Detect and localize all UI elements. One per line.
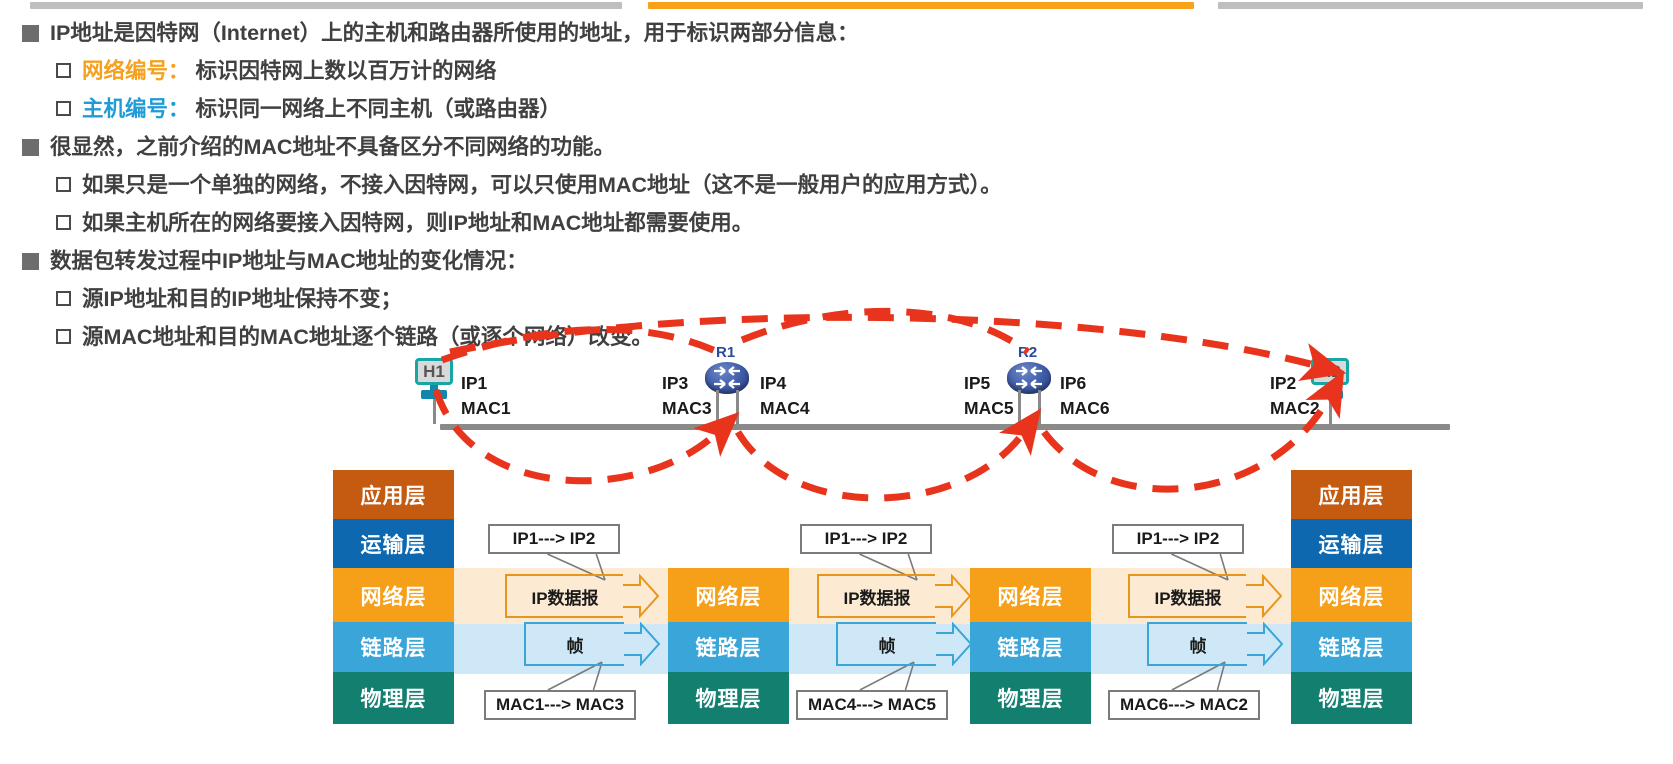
hollow-square-icon: [56, 177, 71, 192]
router-drop-line: [716, 390, 719, 424]
filled-square-icon: [22, 253, 39, 270]
pdu-arrow-icon: [624, 622, 660, 666]
host-label: H2: [1319, 362, 1341, 382]
layer-cell: 物理层: [970, 672, 1091, 724]
progress-seg-active[interactable]: [648, 2, 1194, 9]
bullet-text: 源IP地址和目的IP地址保持不变；: [82, 282, 402, 316]
layer-label: 物理层: [998, 683, 1064, 713]
pdu-frame-1: 帧: [524, 622, 660, 666]
layer-label: 链路层: [696, 632, 762, 662]
pdu-arrow-icon: [936, 622, 972, 666]
layer-label: 网络层: [998, 581, 1064, 611]
callout-mac-3: MAC6---> MAC2: [1108, 690, 1260, 720]
filled-square-icon: [22, 25, 39, 42]
interface-mac: MAC3: [662, 396, 712, 421]
interface-mac: MAC4: [760, 396, 810, 421]
slide-bullet-list: IP地址是因特网（Internet）上的主机和路由器所使用的地址，用于标识两部分…: [0, 16, 1673, 358]
callout-ip-1: IP1---> IP2: [488, 524, 620, 554]
bullet-text: 如果只是一个单独的网络，不接入因特网，可以只使用MAC地址（这不是一般用户的应用…: [82, 168, 1002, 202]
router-drop-line: [736, 390, 739, 424]
bullet-row: 主机编号： 标识同一网络上不同主机（或路由器）: [56, 92, 1673, 126]
pdu-ip-3: IP数据报: [1128, 574, 1282, 618]
bullet-row: 如果只是一个单独的网络，不接入因特网，可以只使用MAC地址（这不是一般用户的应用…: [56, 168, 1673, 202]
bullet-body: 标识因特网上数以百万计的网络: [190, 59, 497, 83]
layer-label: 运输层: [361, 529, 427, 559]
protocol-stack-diagram: 应用层运输层网络层链路层物理层网络层链路层物理层网络层链路层物理层应用层运输层网…: [0, 470, 1673, 764]
bullet-text: 数据包转发过程中IP地址与MAC地址的变化情况：: [50, 244, 528, 278]
layer-cell: 物理层: [668, 672, 789, 724]
layer-cell: 网络层: [668, 568, 789, 624]
bullet-row: 很显然，之前介绍的MAC地址不具备区分不同网络的功能。: [22, 130, 1673, 164]
hollow-square-icon: [56, 63, 71, 78]
interface-mac: MAC6: [1060, 396, 1110, 421]
interface-ip: IP6: [1060, 371, 1110, 396]
layer-cell: 网络层: [970, 568, 1091, 624]
bullet-row: 源IP地址和目的IP地址保持不变；: [56, 282, 1673, 316]
hollow-square-icon: [56, 291, 71, 306]
layer-label: 物理层: [1319, 683, 1385, 713]
host-h1: H1: [415, 358, 453, 385]
pdu-frame-3: 帧: [1147, 622, 1283, 666]
host-base-icon: [1317, 390, 1343, 399]
pdu-label: IP数据报: [817, 574, 935, 618]
layer-cell: 物理层: [1291, 672, 1412, 724]
bullet-row: 网络编号： 标识因特网上数以百万计的网络: [56, 54, 1673, 88]
pdu-ip-2: IP数据报: [817, 574, 971, 618]
progress-seg-right[interactable]: [1218, 2, 1643, 9]
interface-ip: IP1: [461, 371, 511, 396]
router-drop-line: [1018, 390, 1021, 424]
layer-label: 运输层: [1319, 529, 1385, 559]
bullet-row: 数据包转发过程中IP地址与MAC地址的变化情况：: [22, 244, 1673, 278]
network-backbone-line: [440, 424, 1450, 430]
interface-ip: IP3: [662, 371, 712, 396]
pdu-label: 帧: [836, 622, 936, 666]
interface-ip: IP2: [1270, 371, 1320, 396]
layer-label: 网络层: [1319, 581, 1385, 611]
bullet-text: IP地址是因特网（Internet）上的主机和路由器所使用的地址，用于标识两部分…: [50, 16, 859, 50]
iface-h1: IP1MAC1: [461, 371, 511, 421]
bullet-keyword: 主机编号：: [82, 97, 190, 121]
bullet-keyword: 网络编号：: [82, 59, 190, 83]
progress-bar: [0, 0, 1673, 14]
host-base-icon: [421, 390, 447, 399]
pdu-label: IP数据报: [1128, 574, 1246, 618]
pdu-label: IP数据报: [505, 574, 623, 618]
layer-label: 应用层: [1319, 480, 1385, 510]
bullet-text: 网络编号： 标识因特网上数以百万计的网络: [82, 54, 497, 88]
layer-cell: 网络层: [333, 568, 454, 624]
layer-label: 物理层: [361, 683, 427, 713]
router-r1: [705, 362, 749, 394]
layer-cell: 运输层: [333, 519, 454, 568]
network-topology-diagram: H1R1R2H2IP1MAC1IP3MAC3IP4MAC4IP5MAC5IP6M…: [0, 318, 1673, 478]
interface-ip: IP5: [964, 371, 1014, 396]
layer-cell: 应用层: [1291, 470, 1412, 519]
interface-ip: IP4: [760, 371, 810, 396]
layer-label: 应用层: [361, 480, 427, 510]
layer-cell: 链路层: [970, 622, 1091, 672]
layer-cell: 链路层: [333, 622, 454, 672]
callout-ip-2: IP1---> IP2: [800, 524, 932, 554]
host-drop-line: [433, 399, 436, 424]
iface-r2-right: IP6MAC6: [1060, 371, 1110, 421]
layer-label: 链路层: [361, 632, 427, 662]
hollow-square-icon: [56, 215, 71, 230]
router-r2: [1007, 362, 1051, 394]
router-label: R1: [716, 344, 735, 361]
iface-r2-left: IP5MAC5: [964, 371, 1014, 421]
pdu-arrow-icon: [1247, 622, 1283, 666]
pdu-arrow-icon: [935, 574, 971, 618]
progress-seg-left[interactable]: [30, 2, 622, 9]
iface-r1-left: IP3MAC3: [662, 371, 712, 421]
layer-label: 网络层: [696, 581, 762, 611]
bullet-text: 主机编号： 标识同一网络上不同主机（或路由器）: [82, 92, 561, 126]
host-label: H1: [423, 362, 445, 382]
interface-mac: MAC1: [461, 396, 511, 421]
bullet-text: 很显然，之前介绍的MAC地址不具备区分不同网络的功能。: [50, 130, 615, 164]
pdu-frame-2: 帧: [836, 622, 972, 666]
layer-cell: 应用层: [333, 470, 454, 519]
pdu-arrow-icon: [1246, 574, 1282, 618]
layer-cell: 物理层: [333, 672, 454, 724]
interface-mac: MAC5: [964, 396, 1014, 421]
interface-mac: MAC2: [1270, 396, 1320, 421]
router-drop-line: [1038, 390, 1041, 424]
bullet-text: 如果主机所在的网络要接入因特网，则IP地址和MAC地址都需要使用。: [82, 206, 753, 240]
filled-square-icon: [22, 139, 39, 156]
layer-label: 网络层: [361, 581, 427, 611]
callout-mac-1: MAC1---> MAC3: [484, 690, 636, 720]
bullet-row: 如果主机所在的网络要接入因特网，则IP地址和MAC地址都需要使用。: [56, 206, 1673, 240]
iface-h2: IP2MAC2: [1270, 371, 1320, 421]
layer-label: 链路层: [1319, 632, 1385, 662]
layer-label: 链路层: [998, 632, 1064, 662]
iface-r1-right: IP4MAC4: [760, 371, 810, 421]
pdu-label: 帧: [524, 622, 624, 666]
callout-mac-2: MAC4---> MAC5: [796, 690, 948, 720]
pdu-label: 帧: [1147, 622, 1247, 666]
layer-cell: 链路层: [668, 622, 789, 672]
router-label: R2: [1018, 344, 1037, 361]
bullet-row: IP地址是因特网（Internet）上的主机和路由器所使用的地址，用于标识两部分…: [22, 16, 1673, 50]
pdu-ip-1: IP数据报: [505, 574, 659, 618]
pdu-arrow-icon: [623, 574, 659, 618]
bullet-body: 标识同一网络上不同主机（或路由器）: [190, 97, 561, 121]
layer-label: 物理层: [696, 683, 762, 713]
layer-cell: 网络层: [1291, 568, 1412, 624]
callout-ip-3: IP1---> IP2: [1112, 524, 1244, 554]
host-drop-line: [1329, 399, 1332, 424]
layer-cell: 运输层: [1291, 519, 1412, 568]
hollow-square-icon: [56, 101, 71, 116]
layer-cell: 链路层: [1291, 622, 1412, 672]
